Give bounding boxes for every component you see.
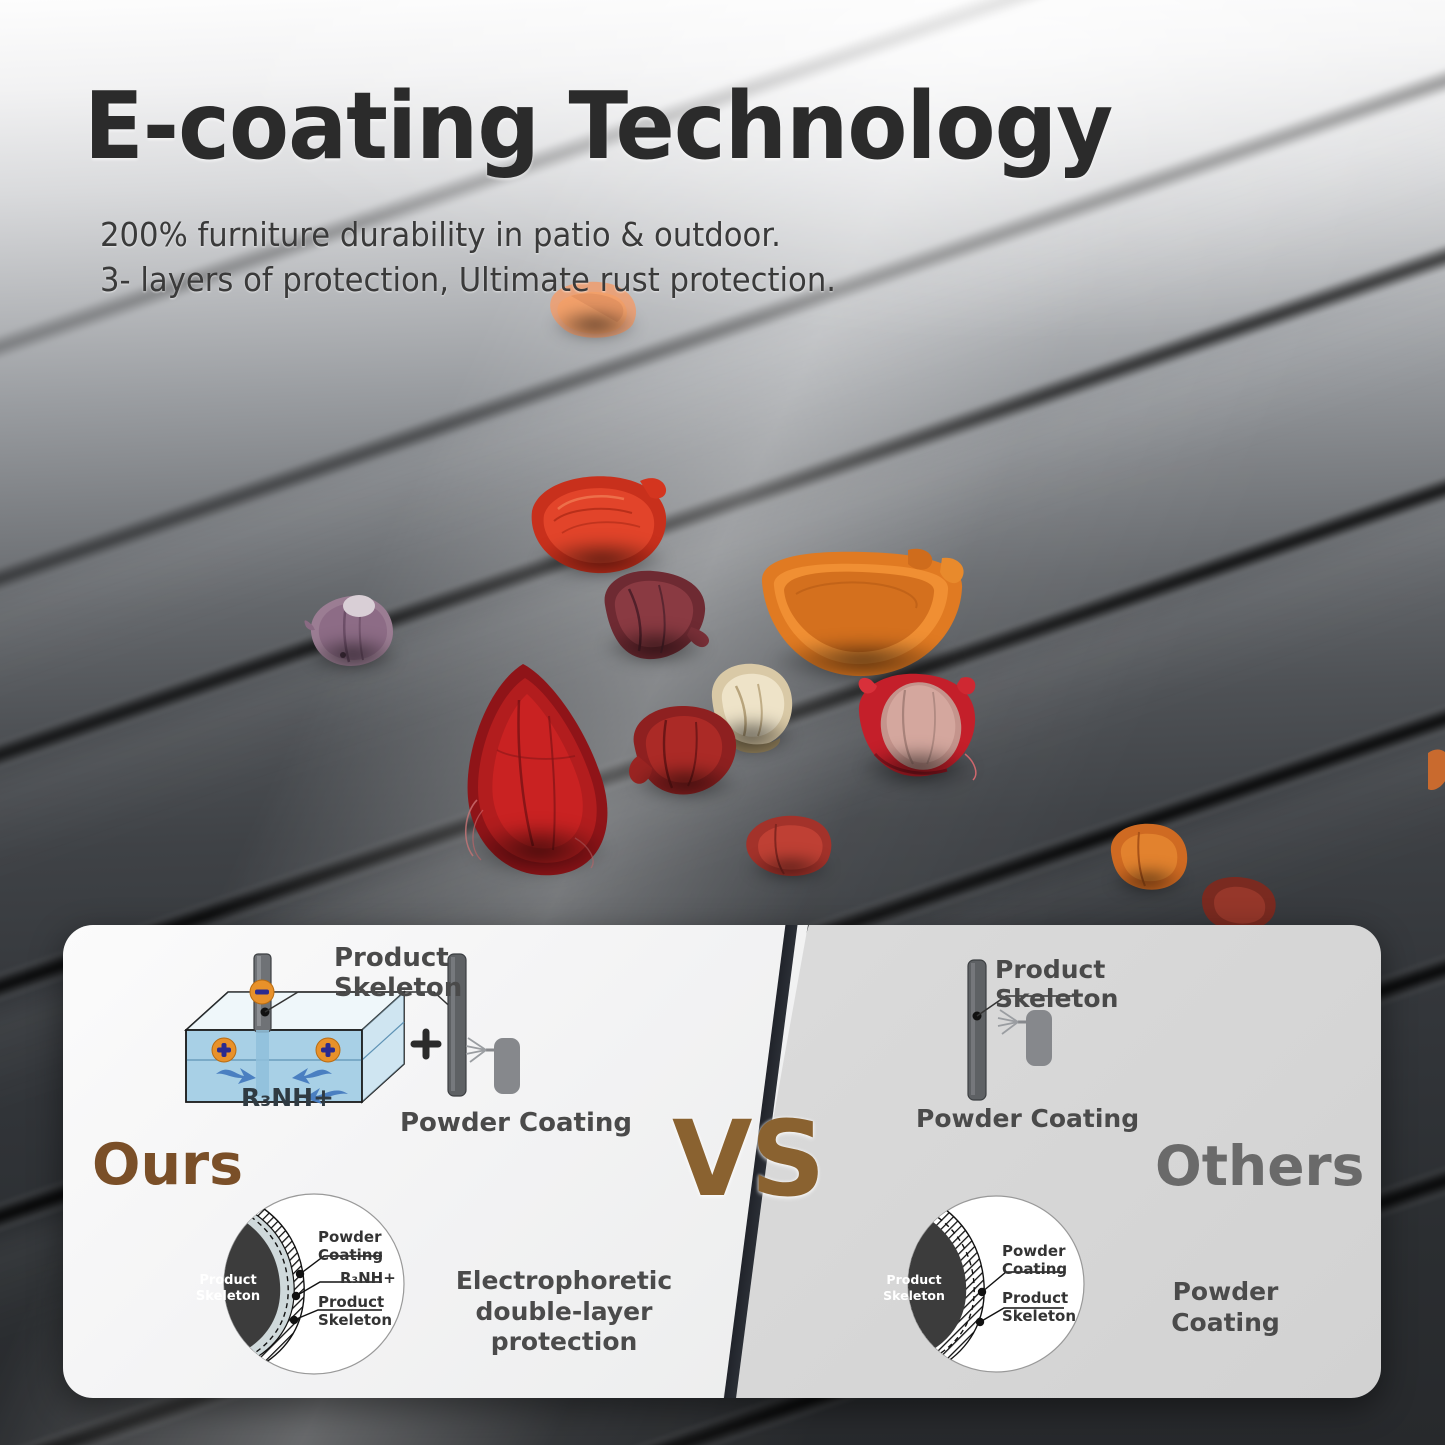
left-layer-label-skeleton: Product Skeleton [318,1294,410,1329]
label-vs: VS [672,1098,823,1220]
caption-others: Powder Coating [1118,1277,1333,1338]
left-layer-label-chemical: R₃NH+ [340,1270,396,1288]
right-layer-label-skeleton: Product Skeleton [1002,1290,1094,1325]
right-cross-section-diagram: Product Skeleton [884,1192,1096,1382]
right-layer-label-powder: Powder Coating [1002,1243,1094,1278]
right-skeleton-label: Product Skeleton [995,955,1118,1014]
left-skeleton-label: Product Skeleton [334,943,462,1004]
svg-text:Skeleton: Skeleton [196,1289,260,1304]
page-title: E-coating Technology [84,72,1112,180]
caption-ours: Electrophoretic double-layer protection [433,1266,695,1358]
infographic-canvas: E-coating Technology 200% furniture dura… [0,0,1445,1445]
label-others: Others [1155,1134,1364,1198]
left-layer-label-powder: Powder Coating [318,1229,408,1264]
right-powder-label: Powder Coating [916,1104,1139,1133]
subtitle-line-2: 3- layers of protection, Ultimate rust p… [100,257,836,302]
svg-text:Skeleton: Skeleton [883,1288,945,1303]
left-bath-chemical-label: R₃NH+ [241,1083,334,1112]
left-powder-label: Powder Coating [400,1108,632,1138]
page-subtitle: 200% furniture durability in patio & out… [100,212,836,302]
label-ours: Ours [92,1132,243,1198]
subtitle-line-1: 200% furniture durability in patio & out… [100,212,836,257]
svg-text:Product: Product [886,1272,941,1287]
svg-text:Product: Product [199,1273,256,1288]
